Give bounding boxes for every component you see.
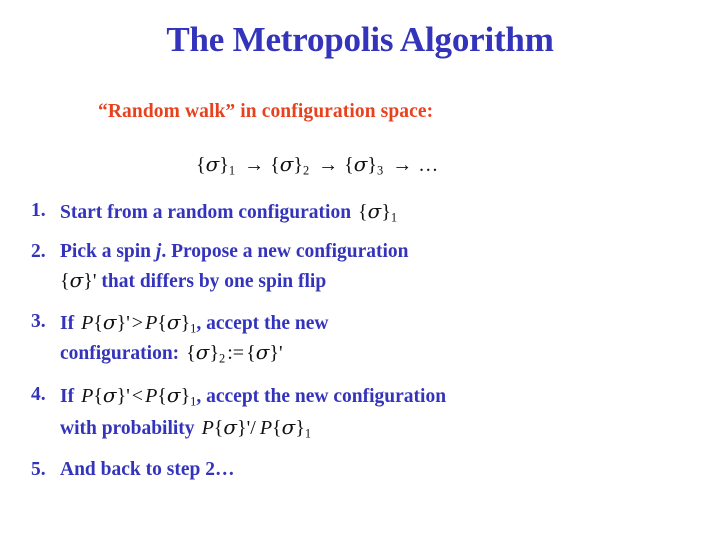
step-1-text: Start from a random configuration (60, 202, 351, 223)
step-1-line-1: Start from a random configuration{σ}1 (60, 198, 720, 227)
brace-close-1: } (219, 154, 229, 176)
step-3-math-assign: {σ}2:={σ}' (186, 342, 282, 364)
arrow-1: → (242, 154, 266, 176)
list-item-step-3: 3. IfP{σ}'>P{σ}1, accept the new configu… (0, 309, 720, 368)
chain-equation: {σ}1→{σ}2→{σ}3→… (196, 152, 438, 178)
steps-list: 1. Start from a random configuration{σ}1… (0, 198, 720, 495)
brace-open-2: { (270, 154, 280, 176)
step-4-line-1: IfP{σ}'<P{σ}1, accept the new configurat… (60, 382, 720, 411)
slide-subtitle: “Random walk” in configuration space: (98, 101, 433, 123)
step-4-prefix: If (60, 386, 74, 407)
step-3-line-2: configuration:{σ}2:={σ}' (60, 339, 720, 368)
brace-close-2: } (293, 154, 303, 176)
list-item-step-4: 4. IfP{σ}'<P{σ}1, accept the new configu… (0, 382, 720, 444)
list-item-step-1: 1. Start from a random configuration{σ}1 (0, 198, 720, 227)
step-3-text-2: configuration: (60, 343, 179, 364)
step-number-4: 4. (31, 382, 46, 409)
subscript-2: 2 (303, 163, 309, 177)
step-4-line-2: with probabilityP{σ}'/P{σ}1 (60, 414, 720, 443)
step-2-text-b: . Propose a new configuration (161, 241, 408, 262)
step-4-text-2: with probability (60, 418, 195, 439)
step-4-math-probability: P{σ}'/P{σ}1 (202, 417, 312, 439)
brace-close-3: } (367, 154, 377, 176)
slide-canvas: The Metropolis Algorithm “Random walk” i… (0, 0, 720, 540)
step-2-text-a: Pick a spin (60, 241, 156, 262)
step-2-line-1: Pick a spin j. Propose a new configurati… (60, 239, 720, 266)
sigma-1: σ (206, 152, 220, 176)
list-item-step-2: 2. Pick a spin j. Propose a new configur… (0, 239, 720, 296)
subscript-1: 1 (229, 163, 235, 177)
brace-open-1: { (196, 154, 206, 176)
ellipsis: … (418, 154, 438, 176)
step-4-math-condition: P{σ}'<P{σ}1 (81, 385, 196, 407)
page-title: The Metropolis Algorithm (0, 22, 720, 59)
sigma-2: σ (280, 152, 294, 176)
step-number-1: 1. (31, 198, 46, 225)
list-item-step-5: 5. And back to step 2… (0, 457, 720, 484)
step-number-3: 3. (31, 309, 46, 336)
step-3-suffix: , accept the new (196, 313, 328, 334)
arrow-2: → (316, 154, 340, 176)
step-3-math-condition: P{σ}'>P{σ}1 (81, 312, 196, 334)
sigma-3: σ (354, 152, 368, 176)
step-5-text: And back to step 2… (60, 459, 234, 480)
step-5-line-1: And back to step 2… (60, 457, 720, 484)
chain-equation-math: {σ}1→{σ}2→{σ}3→… (196, 154, 438, 176)
arrow-3: → (390, 154, 414, 176)
step-3-prefix: If (60, 313, 74, 334)
step-4-suffix: , accept the new configuration (196, 386, 446, 407)
subscript-3: 3 (377, 163, 383, 177)
step-2-line-2: {σ}' that differs by one spin flip (60, 267, 720, 296)
step-1-math: {σ}1 (358, 201, 397, 223)
step-number-2: 2. (31, 239, 46, 266)
step-2-text-c: that differs by one spin flip (96, 271, 326, 292)
step-2-math: {σ}' (60, 270, 96, 292)
brace-open-3: { (344, 154, 354, 176)
step-3-line-1: IfP{σ}'>P{σ}1, accept the new (60, 309, 720, 338)
step-number-5: 5. (31, 457, 46, 484)
